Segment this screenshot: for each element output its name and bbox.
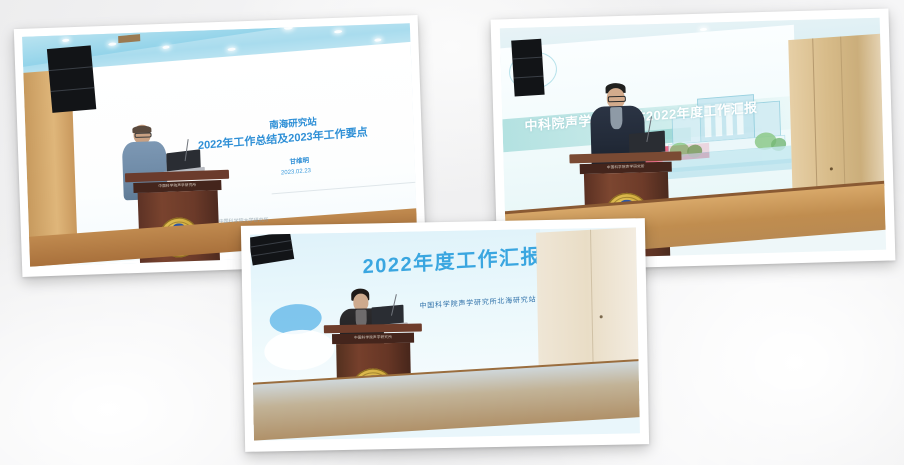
slide-title-3: 2022年度工作汇报 [362, 240, 542, 279]
wall-switch [600, 315, 603, 318]
ceiling-light-icon [162, 45, 169, 49]
wall-switch [830, 167, 833, 170]
ceiling-light-icon [228, 47, 236, 51]
ceiling-light-icon [374, 38, 381, 42]
line-array-speaker [511, 39, 544, 97]
glasses-icon [608, 96, 626, 102]
slide-date-1: 2023.02.23 [281, 168, 311, 176]
slide-subtitle-3: 中国科学院声学研究所北海研究站 [419, 294, 536, 311]
glasses-icon [134, 132, 151, 138]
ceiling-light-icon [284, 25, 293, 30]
photo-card-north-china-sea-station[interactable]: 2022年度工作汇报 中国科学院声学研究所北海研究站 中国科学院声学研究所 [241, 218, 649, 452]
slide-divider-1 [272, 180, 418, 194]
photo-image-3: 2022年度工作汇报 中国科学院声学研究所北海研究站 中国科学院声学研究所 [250, 227, 640, 440]
slide-presenter-1: 甘维明 [289, 154, 309, 166]
line-array-speaker [47, 45, 96, 113]
ceiling-light-icon [334, 30, 342, 34]
presenter-shirt [610, 107, 623, 129]
